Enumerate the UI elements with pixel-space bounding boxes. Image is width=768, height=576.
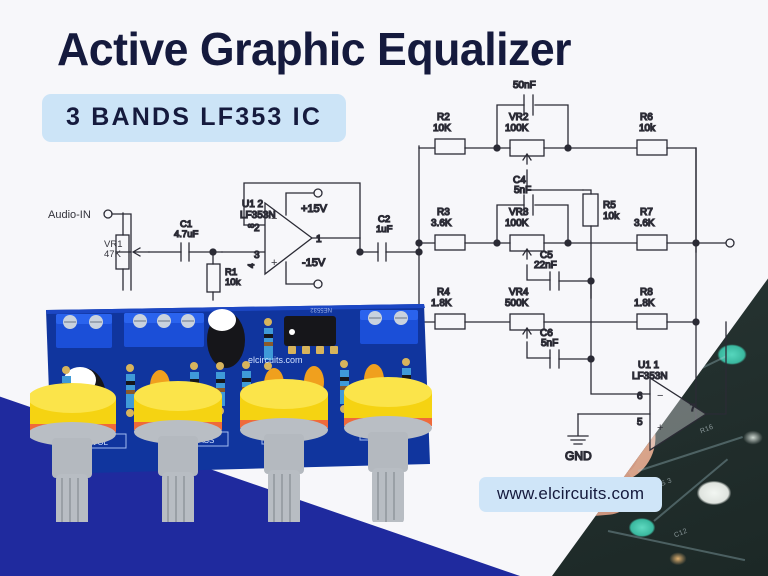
svg-text:R6: R6: [640, 112, 653, 123]
svg-text:22nF: 22nF: [534, 260, 557, 271]
website-url-label: www.elcircuits.com: [497, 484, 644, 503]
subtitle-badge-label: 3 BANDS LF353 IC: [66, 103, 322, 131]
screw-terminal: [124, 313, 204, 347]
svg-text:R7: R7: [640, 207, 653, 218]
svg-text:6: 6: [637, 391, 643, 402]
svg-text:LF353N: LF353N: [632, 371, 668, 382]
svg-text:1: 1: [316, 234, 322, 245]
svg-text:R8: R8: [640, 287, 653, 298]
svg-text:50nF: 50nF: [513, 80, 536, 91]
svg-text:100K: 100K: [505, 218, 529, 229]
svg-text:8: 8: [247, 223, 256, 228]
svg-text:NE5532: NE5532: [310, 306, 332, 312]
svg-text:3: 3: [254, 250, 260, 261]
svg-text:VR2: VR2: [509, 112, 529, 123]
svg-text:U1 1: U1 1: [638, 360, 660, 371]
page-title: Active Graphic Equalizer: [57, 22, 571, 76]
svg-text:+: +: [657, 422, 663, 434]
svg-text:5: 5: [637, 417, 643, 428]
svg-text:7: 7: [690, 403, 696, 414]
svg-text:5nF: 5nF: [541, 338, 558, 349]
svg-text:100K: 100K: [505, 123, 529, 134]
svg-text:4: 4: [247, 263, 256, 268]
svg-text:GND: GND: [565, 449, 592, 463]
svg-text:500K: 500K: [505, 298, 529, 309]
screw-terminal: [56, 314, 112, 348]
svg-text:5nF: 5nF: [514, 185, 531, 196]
svg-text:10k: 10k: [639, 123, 656, 134]
pcb-3d-render: NE5532 elcircuits.com: [30, 292, 450, 522]
svg-text:1uF: 1uF: [376, 224, 393, 235]
svg-text:-15V: -15V: [302, 257, 326, 269]
svg-text:+15V: +15V: [301, 203, 328, 215]
svg-text:1.8K: 1.8K: [634, 298, 655, 309]
svg-text:R3: R3: [437, 207, 450, 218]
svg-text:VR4: VR4: [509, 287, 529, 298]
website-url-badge[interactable]: www.elcircuits.com: [479, 477, 662, 512]
svg-text:3.6K: 3.6K: [634, 218, 655, 229]
poster-canvas: BUSS 3 R16 C12 C1 4.7uF: [0, 0, 768, 576]
svg-text:−: −: [271, 213, 277, 225]
audio-in-label: Audio-IN: [48, 209, 91, 221]
svg-text:R5: R5: [603, 200, 616, 211]
svg-text:R2: R2: [437, 112, 450, 123]
svg-text:3.6K: 3.6K: [431, 218, 452, 229]
svg-text:VR3: VR3: [509, 207, 529, 218]
svg-text:4.7uF: 4.7uF: [174, 229, 198, 240]
svg-text:10k: 10k: [603, 211, 620, 222]
svg-text:10k: 10k: [225, 277, 241, 288]
screw-terminal: [360, 310, 418, 344]
svg-text:+: +: [271, 257, 277, 269]
svg-text:U1 2: U1 2: [242, 199, 264, 210]
svg-text:−: −: [657, 390, 663, 402]
subtitle-badge: 3 BANDS LF353 IC: [42, 94, 346, 142]
svg-text:10K: 10K: [433, 123, 451, 134]
pcb-silkscreen-site: elcircuits.com: [248, 355, 303, 365]
vr1-value: 47K: [104, 249, 122, 260]
